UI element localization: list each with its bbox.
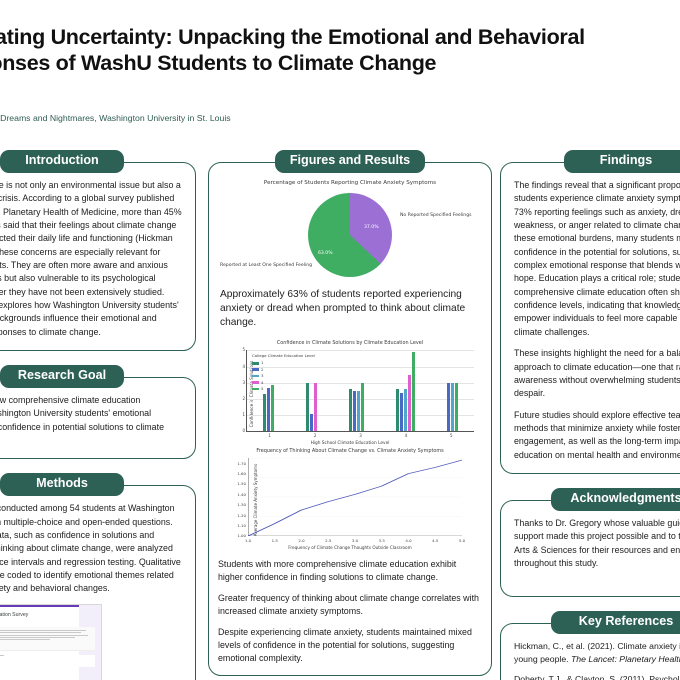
bar bbox=[310, 414, 313, 432]
section-heading-findings: Findings bbox=[564, 150, 680, 173]
pie-chart-title: Percentage of Students Reporting Climate… bbox=[218, 179, 482, 187]
bar-ytick-1: 1 bbox=[242, 412, 245, 418]
section-heading-research-goal: Research Goal bbox=[0, 365, 124, 388]
bar bbox=[263, 394, 266, 431]
chart-pie-anxiety: Percentage of Students Reporting Climate… bbox=[218, 179, 482, 281]
line-ytick-6: 1.60 bbox=[237, 471, 246, 477]
line-xtick-4: 3.0 bbox=[352, 538, 358, 544]
bar bbox=[455, 383, 458, 432]
bar-group bbox=[447, 350, 458, 431]
right-column: Findings The findings reveal that a sign… bbox=[500, 150, 680, 680]
bar-group bbox=[396, 350, 415, 431]
form-question-block bbox=[0, 655, 95, 667]
bar-chart-title: Confidence in Climate Solutions by Clima… bbox=[218, 340, 482, 347]
result-line-2: Greater frequency of thinking about clim… bbox=[218, 592, 482, 618]
page-title: Navigating Uncertainty: Unpacking the Em… bbox=[0, 24, 638, 76]
legend-swatch bbox=[252, 362, 259, 365]
pie-caption: Approximately 63% of students reported e… bbox=[220, 288, 480, 330]
bar bbox=[400, 393, 403, 432]
bar-legend-row: 2 bbox=[252, 367, 315, 373]
pie-plot-area: 37.0% 63.0% No Reported Specified Feelin… bbox=[218, 189, 482, 281]
section-heading-methods: Methods bbox=[0, 473, 124, 496]
line-ytick-3: 1.30 bbox=[237, 502, 246, 508]
acknowledgments-text: Thanks to Dr. Gregory whose valuable gui… bbox=[514, 517, 680, 570]
bar bbox=[404, 389, 407, 431]
line-xtick-8: 5.0 bbox=[459, 538, 465, 544]
section-body-findings: The findings reveal that a significant p… bbox=[500, 162, 680, 474]
section-research-goal: Research Goal To examine how comprehensi… bbox=[0, 365, 196, 459]
results-text-block: Students with more comprehensive climate… bbox=[218, 558, 482, 664]
section-methods: Methods A survey was conducted among 54 … bbox=[0, 473, 196, 680]
bar-xtick-1: 1 bbox=[268, 433, 271, 439]
pie-value-no-feelings: 37.0% bbox=[364, 225, 379, 232]
section-body-methods: A survey was conducted among 54 students… bbox=[0, 485, 196, 680]
line-ytick-1: 1.10 bbox=[237, 523, 246, 529]
legend-swatch bbox=[252, 368, 259, 371]
line-ytick-5: 1.50 bbox=[237, 482, 246, 488]
findings-paragraph-1: The findings reveal that a significant p… bbox=[514, 179, 680, 339]
introduction-text: Climate change is not only an environmen… bbox=[0, 179, 182, 339]
bar bbox=[412, 352, 415, 431]
form-title: Climate Change Education Survey bbox=[0, 612, 28, 620]
research-goal-text: To examine how comprehensive climate edu… bbox=[0, 394, 182, 447]
bar bbox=[357, 391, 360, 432]
poster-header: Navigating Uncertainty: Unpacking the Em… bbox=[0, 24, 680, 123]
bar-legend-row: 5 bbox=[252, 386, 315, 392]
poster-canvas: Navigating Uncertainty: Unpacking the Em… bbox=[0, 0, 680, 680]
pie-slices bbox=[308, 193, 392, 277]
line-chart-xlabel: Frequency of Climate Change Thoughts Out… bbox=[218, 545, 482, 551]
form-description-block bbox=[0, 627, 95, 651]
section-heading-figures-and-results: Figures and Results bbox=[275, 150, 425, 173]
survey-form-screenshot: Climate Change Education Survey ↺ ⟲ ⎙ bbox=[0, 604, 102, 680]
legend-swatch bbox=[252, 381, 259, 384]
bar-ytick-4: 4 bbox=[242, 364, 245, 370]
bar-chart-xlabel: High School Climate Education Level bbox=[218, 441, 482, 447]
bar-chart-legend: College Climate Education Level 12345 bbox=[252, 353, 315, 392]
chart-line-anxiety: Frequency of Thinking About Climate Chan… bbox=[218, 448, 482, 552]
left-column: Introduction Climate change is not only … bbox=[0, 150, 196, 680]
bar bbox=[349, 389, 352, 431]
section-body-figures-and-results: Percentage of Students Reporting Climate… bbox=[208, 162, 492, 676]
bar-ytick-2: 2 bbox=[242, 396, 245, 402]
line-xtick-7: 4.5 bbox=[432, 538, 438, 544]
bar-xtick-4: 4 bbox=[405, 433, 408, 439]
section-figures-and-results: Figures and Results Percentage of Studen… bbox=[208, 150, 492, 676]
legend-label: 4 bbox=[261, 380, 263, 386]
line-ytick-7: 1.70 bbox=[237, 461, 246, 467]
legend-label: 5 bbox=[261, 386, 263, 392]
line-xtick-1: 1.5 bbox=[272, 538, 278, 544]
reference-item: Hickman, C., et al. (2021). Climate anxi… bbox=[514, 640, 680, 665]
bar-legend-row: 1 bbox=[252, 360, 315, 366]
pie-label-no-feelings: No Reported Specified Feelings bbox=[400, 213, 472, 220]
line-xtick-6: 4.0 bbox=[405, 538, 411, 544]
reference-1-journal: The Lancet: Planetary Health. bbox=[571, 654, 680, 664]
line-ytick-2: 1.20 bbox=[237, 513, 246, 519]
bar bbox=[267, 388, 270, 432]
section-body-introduction: Climate change is not only an environmen… bbox=[0, 162, 196, 351]
legend-label: 1 bbox=[261, 360, 263, 366]
section-heading-key-references: Key References bbox=[551, 611, 680, 634]
bar-xtick-5: 5 bbox=[450, 433, 453, 439]
findings-paragraph-3: Future studies should explore effective … bbox=[514, 409, 680, 462]
bar-ytick-0: 0 bbox=[242, 428, 245, 434]
line-xtick-5: 3.5 bbox=[379, 538, 385, 544]
legend-swatch bbox=[252, 388, 259, 391]
affiliation: Course Writing: Dreams and Nightmares, W… bbox=[0, 113, 680, 123]
section-body-research-goal: To examine how comprehensive climate edu… bbox=[0, 377, 196, 459]
bar-xtick-3: 3 bbox=[359, 433, 362, 439]
chart-bar-confidence: Confidence in Climate Solutions by Clima… bbox=[218, 340, 482, 448]
bar bbox=[396, 389, 399, 431]
legend-swatch bbox=[252, 375, 259, 378]
bar bbox=[408, 375, 411, 432]
bar-legend-row: 4 bbox=[252, 380, 315, 386]
section-heading-acknowledgments: Acknowledgments bbox=[551, 488, 680, 511]
bar-xtick-2: 2 bbox=[314, 433, 317, 439]
line-xtick-0: 1.0 bbox=[245, 538, 251, 544]
line-ytick-4: 1.40 bbox=[237, 492, 246, 498]
bar-legend-title: College Climate Education Level bbox=[252, 353, 315, 359]
center-column: Figures and Results Percentage of Studen… bbox=[208, 150, 492, 680]
line-plot-area: 1.00 1.10 1.20 1.30 1.40 1.50 1.60 1.70 … bbox=[248, 458, 462, 536]
section-findings: Findings The findings reveal that a sign… bbox=[500, 150, 680, 474]
methods-text: A survey was conducted among 54 students… bbox=[0, 502, 182, 596]
reference-item: Doherty, T.J., & Clayton, S. (2011). Psy… bbox=[514, 673, 680, 680]
section-heading-introduction: Introduction bbox=[0, 150, 124, 173]
section-body-acknowledgments: Thanks to Dr. Gregory whose valuable gui… bbox=[500, 500, 680, 597]
legend-label: 3 bbox=[261, 373, 263, 379]
findings-paragraph-2: These insights highlight the need for a … bbox=[514, 347, 680, 400]
bar-ytick-3: 3 bbox=[242, 380, 245, 386]
bar bbox=[353, 391, 356, 432]
line-xtick-2: 2.0 bbox=[298, 538, 304, 544]
author-1: Andrew bbox=[0, 83, 680, 95]
bar bbox=[451, 383, 454, 432]
section-key-references: Key References Hickman, C., et al. (2021… bbox=[500, 611, 680, 680]
section-introduction: Introduction Climate change is not only … bbox=[0, 150, 196, 351]
result-line-1: Students with more comprehensive climate… bbox=[218, 558, 482, 584]
bar bbox=[447, 383, 450, 432]
bar-group bbox=[349, 350, 364, 431]
line-series-svg bbox=[248, 458, 462, 536]
legend-label: 2 bbox=[261, 367, 263, 373]
pie-label-reported: Reported at Least One Specified Feeling bbox=[220, 263, 312, 270]
bar-legend-row: 3 bbox=[252, 373, 315, 379]
section-acknowledgments: Acknowledgments Thanks to Dr. Gregory wh… bbox=[500, 488, 680, 597]
bar-ytick-5: 5 bbox=[242, 347, 245, 353]
bar bbox=[361, 383, 364, 432]
reference-2-text: Doherty, T.J., & Clayton, S. (2011). Psy… bbox=[514, 674, 680, 680]
author-2: Gregory bbox=[0, 96, 680, 108]
line-xtick-3: 2.5 bbox=[325, 538, 331, 544]
author-list: Andrew Gregory bbox=[0, 83, 680, 107]
line-chart-title: Frequency of Thinking About Climate Chan… bbox=[218, 448, 482, 455]
result-line-3: Despite experiencing climate anxiety, st… bbox=[218, 626, 482, 665]
pie-value-reported: 63.0% bbox=[318, 251, 333, 258]
